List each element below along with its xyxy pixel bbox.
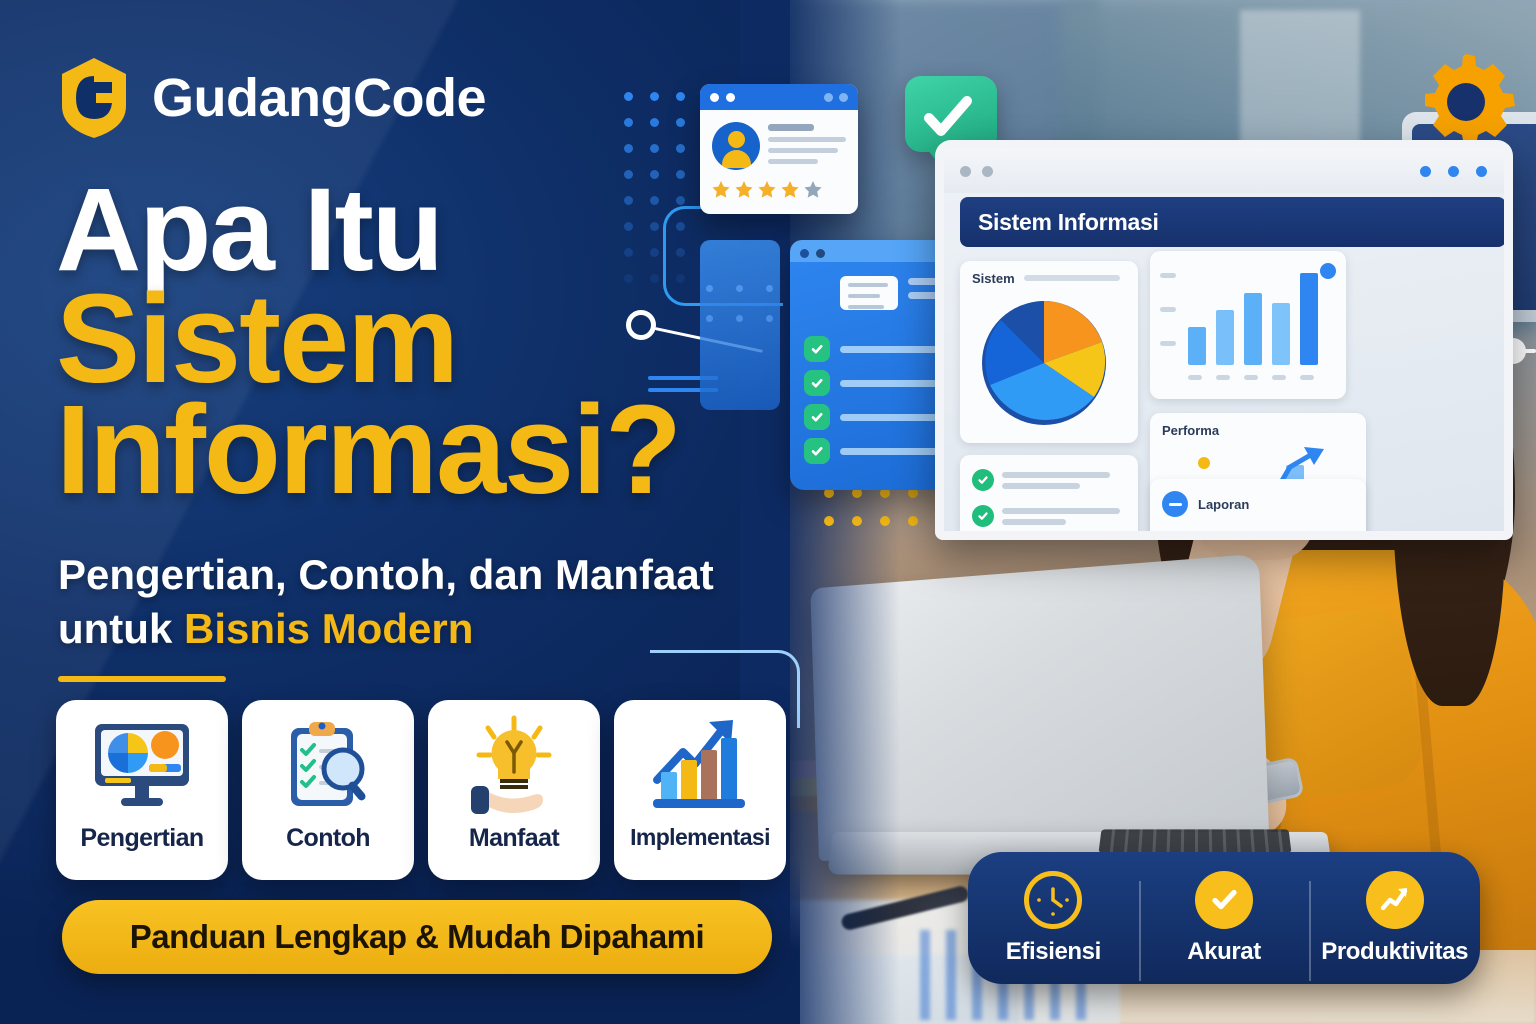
side-card-left (700, 240, 780, 410)
subtitle-line-2: untuk Bisnis Modern (58, 602, 788, 656)
brand-logo[interactable]: GudangCode (58, 56, 486, 140)
benefits-bar: Efisiensi Akurat Produktivitas (968, 852, 1480, 984)
review-card-titlebar (700, 84, 858, 110)
subtitle-line-1: Pengertian, Contoh, dan Manfaat (58, 548, 788, 602)
benefit-akurat[interactable]: Akurat (1139, 871, 1310, 966)
green-check-icon (972, 469, 994, 491)
subtitle-prefix: untuk (58, 605, 184, 652)
feature-card-label: Implementasi (630, 824, 770, 851)
clipboard-magnifier-icon (269, 714, 387, 820)
feature-cards: Pengertian Contoh (56, 700, 786, 880)
trend-up-icon (1366, 871, 1424, 929)
cta-button[interactable]: Panduan Lengkap & Mudah Dipahami (62, 900, 772, 974)
page-title: Apa Itu Sistem Informasi? (56, 176, 796, 508)
hand-lightbulb-icon (455, 714, 573, 820)
panel-badge (1320, 263, 1336, 279)
bar-chart-arrow-icon (641, 714, 759, 820)
bar-chart-panel (1150, 251, 1346, 399)
headline-line-3: Informasi? (56, 391, 796, 508)
nav-dot[interactable] (1476, 166, 1487, 177)
window-dot (710, 93, 719, 102)
benefit-label: Akurat (1187, 938, 1261, 966)
subtitle-highlight: Bisnis Modern (184, 605, 473, 652)
window-dot (726, 93, 735, 102)
action-panel: Laporan (1150, 479, 1366, 540)
green-check-icon (804, 336, 830, 362)
brand-name: GudangCode (152, 71, 486, 125)
feature-card-contoh[interactable]: Contoh (242, 700, 414, 880)
avatar-body (722, 150, 751, 168)
clock-icon (1024, 871, 1082, 929)
note-chip (840, 276, 898, 310)
action-chip-ghost[interactable] (1274, 531, 1326, 540)
star-icon (711, 180, 731, 200)
benefit-produktivitas[interactable]: Produktivitas (1309, 871, 1480, 966)
window-dot (816, 249, 825, 258)
star-rating (711, 180, 823, 200)
check-icon (1195, 871, 1253, 929)
star-icon (734, 180, 754, 200)
action-chip[interactable] (1162, 531, 1196, 540)
panel-title-placeholder (1024, 275, 1120, 281)
dashboard-window: Sistem Informasi Sistem (935, 140, 1513, 540)
review-card-mockup (700, 84, 858, 214)
avatar-head (728, 131, 745, 148)
window-dot (800, 249, 809, 258)
feature-card-manfaat[interactable]: Manfaat (428, 700, 600, 880)
window-dot (824, 93, 833, 102)
green-check-icon (804, 370, 830, 396)
review-text-lines (768, 124, 848, 170)
feature-card-label: Manfaat (469, 824, 559, 853)
window-dot (839, 93, 848, 102)
star-icon-empty (803, 180, 823, 200)
nav-dot[interactable] (1448, 166, 1459, 177)
benefit-label: Efisiensi (1006, 938, 1101, 966)
feature-card-label: Pengertian (80, 824, 203, 853)
shield-g-icon (58, 56, 130, 140)
pie-panel-label: Sistem (972, 271, 1015, 286)
action-panel-label: Laporan (1198, 497, 1249, 512)
green-check-icon (972, 505, 994, 527)
feature-card-label: Contoh (286, 824, 370, 853)
feature-card-pengertian[interactable]: Pengertian (56, 700, 228, 880)
minus-icon[interactable] (1162, 491, 1188, 517)
pie-chart-panel: Sistem (960, 261, 1138, 443)
dashboard-title: Sistem Informasi (978, 209, 1159, 236)
trend-panel-label: Performa (1162, 423, 1219, 438)
window-dot[interactable] (982, 166, 993, 177)
green-check-icon (804, 438, 830, 464)
pie-chart (974, 293, 1124, 433)
window-dot[interactable] (960, 166, 971, 177)
benefit-efisiensi[interactable]: Efisiensi (968, 871, 1139, 966)
checklist-item (972, 505, 1120, 527)
accent-divider (58, 676, 226, 682)
bar-chart (1184, 265, 1334, 369)
star-icon (757, 180, 777, 200)
checklist-item (972, 469, 1110, 491)
star-icon (780, 180, 800, 200)
checklist-panel (960, 455, 1138, 540)
user-avatar-icon (712, 122, 760, 170)
green-check-icon (804, 404, 830, 430)
monitor-chart-icon (83, 714, 201, 820)
nav-dot[interactable] (1420, 166, 1431, 177)
dashboard-header: Sistem Informasi (960, 197, 1506, 247)
action-chip[interactable] (1206, 531, 1264, 540)
feature-card-implementasi[interactable]: Implementasi (614, 700, 786, 880)
page-subtitle: Pengertian, Contoh, dan Manfaat untuk Bi… (58, 548, 788, 656)
cta-label: Panduan Lengkap & Mudah Dipahami (130, 918, 704, 956)
laptop-keyboard (1099, 829, 1292, 853)
poster-canvas: GudangCode Apa Itu Sistem Informasi? Pen… (0, 0, 1536, 1024)
benefit-label: Produktivitas (1321, 938, 1468, 966)
